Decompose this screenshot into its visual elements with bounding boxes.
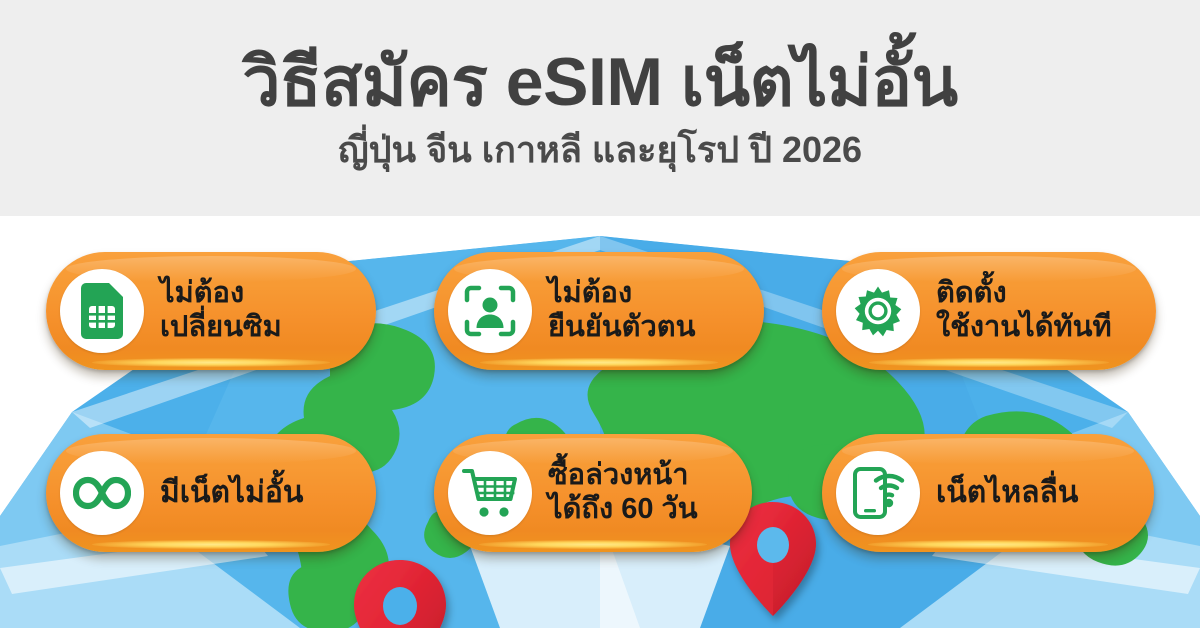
feature-label-line2: เปลี่ยนซิม <box>160 311 282 345</box>
feature-pill-grid: ไม่ต้อง เปลี่ยนซิม ไม่ต้อง <box>0 216 1200 628</box>
feature-label-line1: มีเน็ตไม่อั้น <box>160 476 303 509</box>
page-title: วิธีสมัคร eSIM เน็ตไม่อั้น <box>242 46 957 119</box>
page-subtitle: ญี่ปุ่น จีน เกาหลี และยุโรป ปี 2026 <box>338 130 862 170</box>
feature-label-line1: เน็ตไหลลื่น <box>936 476 1078 509</box>
sim-card-icon <box>60 269 144 353</box>
feature-pill-smooth-internet[interactable]: เน็ตไหลลื่น <box>822 434 1154 552</box>
phone-wifi-icon <box>836 451 920 535</box>
feature-label-no-sim-change: ไม่ต้อง เปลี่ยนซิม <box>160 277 298 344</box>
shopping-cart-icon <box>448 451 532 535</box>
feature-label-instant-setup: ติดตั้ง ใช้งานได้ทันที <box>936 277 1128 344</box>
feature-label-line1: ซื้อล่วงหน้า <box>548 459 689 491</box>
feature-label-line2: ได้ถึง 60 วัน <box>548 493 698 527</box>
feature-label-line1: ไม่ต้อง <box>160 277 244 309</box>
feature-label-smooth-internet: เน็ตไหลลื่น <box>936 476 1094 511</box>
infinity-icon <box>60 451 144 535</box>
feature-label-unlimited-data: มีเน็ตไม่อั้น <box>160 476 319 511</box>
feature-label-line2: ใช้งานได้ทันที <box>936 311 1112 345</box>
identity-verification-icon <box>448 269 532 353</box>
gear-icon <box>836 269 920 353</box>
feature-label-line1: ไม่ต้อง <box>548 277 632 309</box>
feature-label-no-identity-verification: ไม่ต้อง ยืนยันตัวตน <box>548 277 711 344</box>
infographic-canvas: วิธีสมัคร eSIM เน็ตไม่อั้น ญี่ปุ่น จีน เ… <box>0 0 1200 628</box>
feature-label-line2: ยืนยันตัวตน <box>548 311 695 345</box>
feature-pill-no-sim-change[interactable]: ไม่ต้อง เปลี่ยนซิม <box>46 252 376 370</box>
feature-pill-instant-setup[interactable]: ติดตั้ง ใช้งานได้ทันที <box>822 252 1156 370</box>
feature-pill-unlimited-data[interactable]: มีเน็ตไม่อั้น <box>46 434 376 552</box>
header-banner: วิธีสมัคร eSIM เน็ตไม่อั้น ญี่ปุ่น จีน เ… <box>0 0 1200 216</box>
feature-label-buy-in-advance: ซื้อล่วงหน้า ได้ถึง 60 วัน <box>548 459 714 526</box>
feature-pill-buy-in-advance[interactable]: ซื้อล่วงหน้า ได้ถึง 60 วัน <box>434 434 752 552</box>
feature-pill-no-identity-verification[interactable]: ไม่ต้อง ยืนยันตัวตน <box>434 252 764 370</box>
feature-label-line1: ติดตั้ง <box>936 277 1007 309</box>
